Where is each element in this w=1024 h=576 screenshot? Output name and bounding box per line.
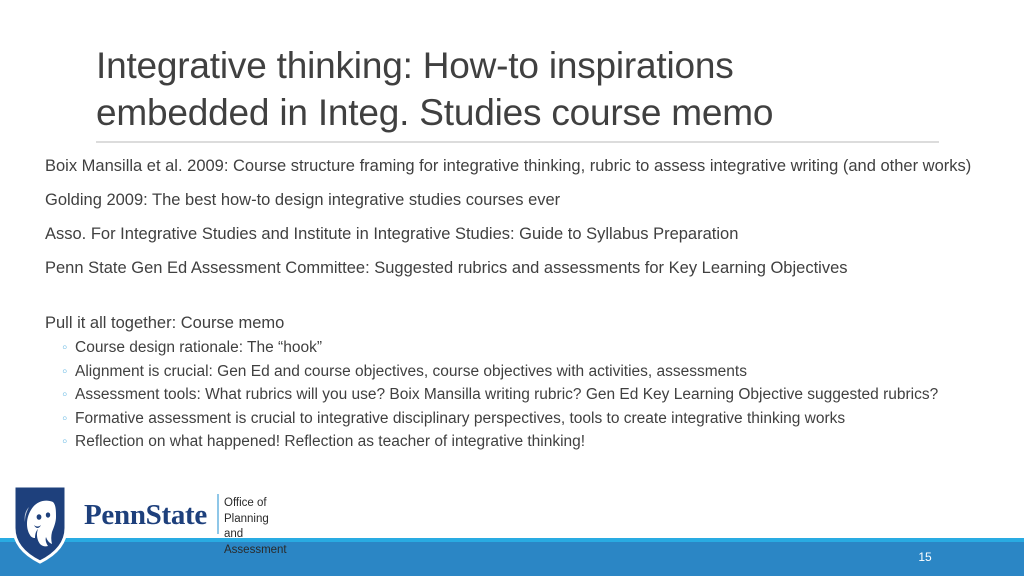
list-item-label: Reflection on what happened! Reflection … [75, 433, 585, 450]
lockup-divider [217, 494, 219, 534]
hollow-circle-bullet-icon: ◦ [62, 336, 68, 360]
list-item: ◦ Course design rationale: The “hook” [45, 336, 995, 360]
list-item-label: Course design rationale: The “hook” [75, 339, 322, 356]
list-item: ◦ Assessment tools: What rubrics will yo… [45, 383, 995, 407]
body-paragraph: Asso. For Integrative Studies and Instit… [45, 224, 995, 245]
body-spacer [45, 292, 995, 313]
body-paragraph: Boix Mansilla et al. 2009: Course struct… [45, 156, 995, 177]
unit-name: Office of Planning and Assessment [224, 496, 287, 558]
list-item-label: Formative assessment is crucial to integ… [75, 410, 845, 427]
footer-bar [0, 538, 1024, 576]
nittany-lion-shield-icon [12, 484, 68, 564]
penn-state-wordmark: PennState [84, 500, 207, 530]
hollow-circle-bullet-icon: ◦ [62, 407, 68, 431]
section-heading: Pull it all together: Course memo [45, 313, 995, 334]
footer-bar-accent-stripe [0, 538, 1024, 542]
bullet-list: ◦ Course design rationale: The “hook” ◦ … [45, 336, 995, 454]
slide-body: Boix Mansilla et al. 2009: Course struct… [45, 156, 995, 454]
list-item-label: Alignment is crucial: Gen Ed and course … [75, 363, 747, 380]
list-item: ◦ Reflection on what happened! Reflectio… [45, 430, 995, 454]
hollow-circle-bullet-icon: ◦ [62, 430, 68, 454]
body-paragraph: Golding 2009: The best how-to design int… [45, 190, 995, 211]
title-divider [96, 141, 939, 143]
page-title: Integrative thinking: How-to inspiration… [96, 42, 941, 136]
hollow-circle-bullet-icon: ◦ [62, 360, 68, 384]
list-item: ◦ Alignment is crucial: Gen Ed and cours… [45, 360, 995, 384]
list-item: ◦ Formative assessment is crucial to int… [45, 407, 995, 431]
hollow-circle-bullet-icon: ◦ [62, 383, 68, 407]
page-number: 15 [905, 550, 945, 564]
body-paragraph: Penn State Gen Ed Assessment Committee: … [45, 258, 995, 279]
list-item-label: Assessment tools: What rubrics will you … [75, 386, 938, 403]
